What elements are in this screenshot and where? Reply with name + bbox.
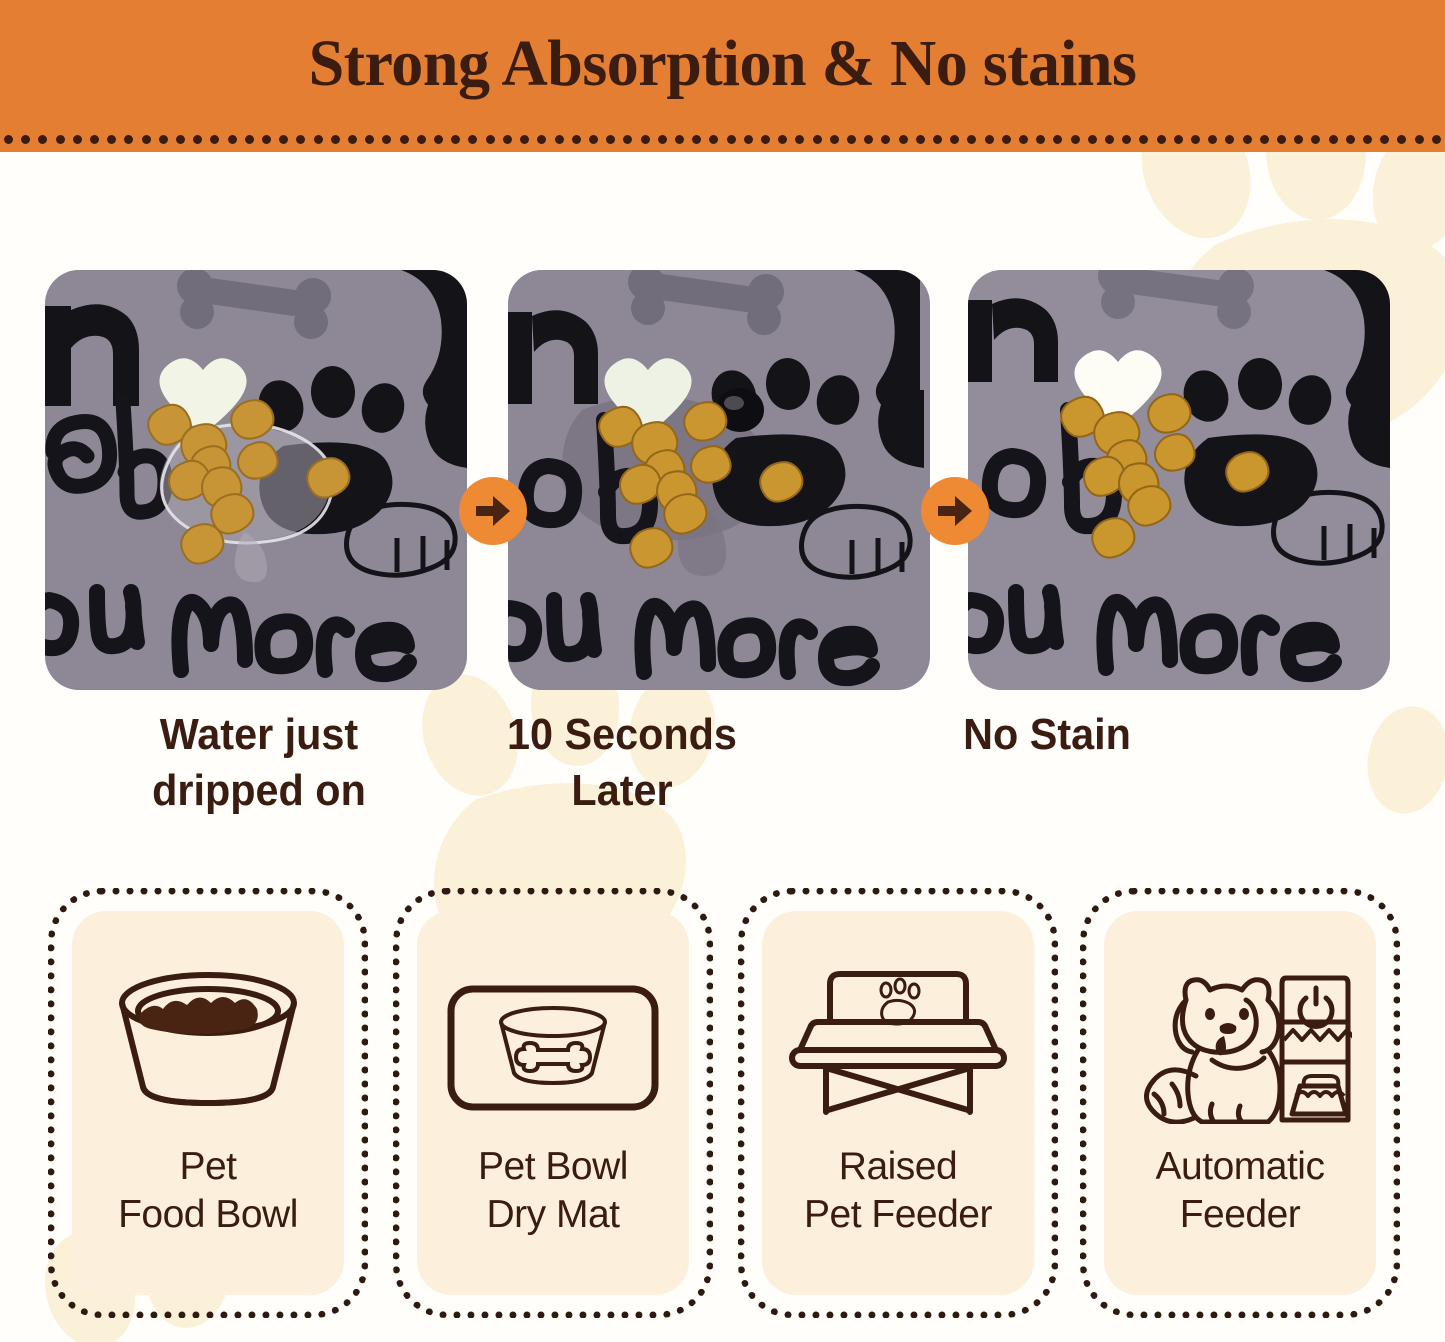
use-case-card-pet-bowl-dry-mat[interactable]: Pet BowlDry Mat — [393, 888, 713, 1318]
use-case-card-raised-pet-feeder[interactable]: RaisedPet Feeder — [738, 888, 1058, 1318]
demo-photo-10-seconds-later — [508, 270, 930, 690]
absorption-demo-row: Water justdripped on 10 SecondsLater No … — [0, 152, 1445, 712]
card-label: Pet BowlDry Mat — [478, 1143, 628, 1238]
demo-photo-no-stain — [968, 270, 1390, 690]
card-label: RaisedPet Feeder — [804, 1143, 992, 1238]
page-title: Strong Absorption & No stains — [22, 26, 1424, 102]
demo-photo-water-dripped — [45, 270, 467, 690]
automatic-feeder-icon — [1128, 955, 1352, 1133]
use-case-card-automatic-feeder[interactable]: AutomaticFeeder — [1080, 888, 1400, 1318]
header-dotted-divider — [0, 132, 1445, 146]
raised-pet-feeder-icon — [788, 955, 1008, 1133]
card-label: PetFood Bowl — [118, 1143, 298, 1238]
arrow-right-icon — [459, 477, 527, 545]
pet-bowl-dry-mat-icon — [446, 955, 660, 1133]
use-case-card-row: PetFood Bowl Pet BowlDry Mat — [0, 888, 1445, 1328]
demo-caption-2: 10 SecondsLater — [401, 707, 843, 819]
arrow-right-icon — [921, 477, 989, 545]
use-case-card-pet-food-bowl[interactable]: PetFood Bowl — [48, 888, 368, 1318]
demo-caption-3: No Stain — [826, 707, 1268, 763]
card-label: AutomaticFeeder — [1156, 1143, 1325, 1238]
pet-food-bowl-icon — [103, 955, 313, 1133]
header-banner: Strong Absorption & No stains — [0, 0, 1445, 152]
